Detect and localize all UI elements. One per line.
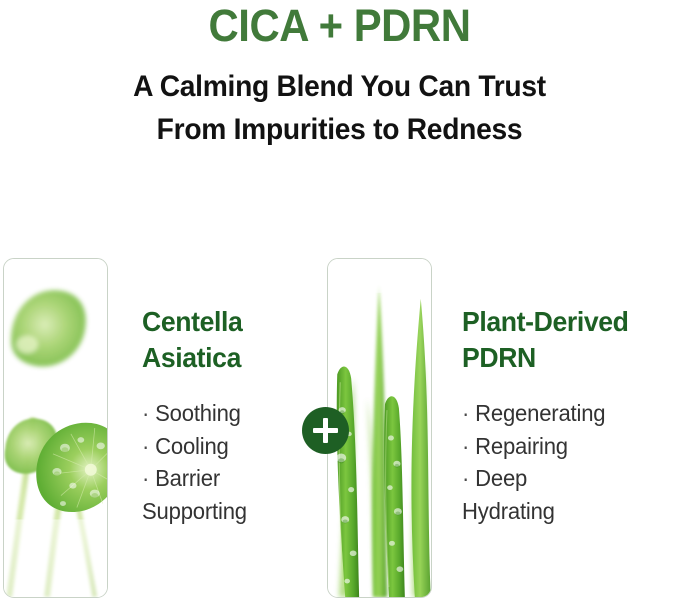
benefit-item: Soothing xyxy=(142,397,305,430)
header-block: CICA + PDRN A Calming Blend You Can Trus… xyxy=(0,0,679,152)
benefit-item: Regenerating xyxy=(462,397,664,430)
plus-icon xyxy=(302,407,349,454)
subtitle-block: A Calming Blend You Can Trust From Impur… xyxy=(0,65,679,152)
benefit-item: Deep Hydrating xyxy=(462,462,664,527)
pdrn-heading: Plant-Derived PDRN xyxy=(462,304,662,375)
centella-benefit-list: Soothing Cooling Barrier Supporting xyxy=(142,397,312,528)
pdrn-benefit-list: Regenerating Repairing Deep Hydrating xyxy=(462,397,672,528)
pdrn-info-column: Plant-Derived PDRN Regenerating Repairin… xyxy=(462,304,672,528)
plus-icon-vertical-bar xyxy=(323,418,328,443)
centella-photo-card xyxy=(3,258,108,598)
subtitle-line-1: A Calming Blend You Can Trust xyxy=(20,65,658,109)
ingredients-section: Centella Asiatica Soothing Cooling Barri… xyxy=(0,258,679,608)
centella-info-column: Centella Asiatica Soothing Cooling Barri… xyxy=(142,304,312,528)
centella-heading: Centella Asiatica xyxy=(142,304,304,375)
centella-asiatica-leaves-photo xyxy=(4,259,107,597)
page-title: CICA + PDRN xyxy=(24,0,655,51)
benefit-item: Repairing xyxy=(462,430,664,463)
subtitle-line-2: From Impurities to Redness xyxy=(20,108,658,152)
benefit-item: Barrier Supporting xyxy=(142,462,305,527)
benefit-item: Cooling xyxy=(142,430,305,463)
